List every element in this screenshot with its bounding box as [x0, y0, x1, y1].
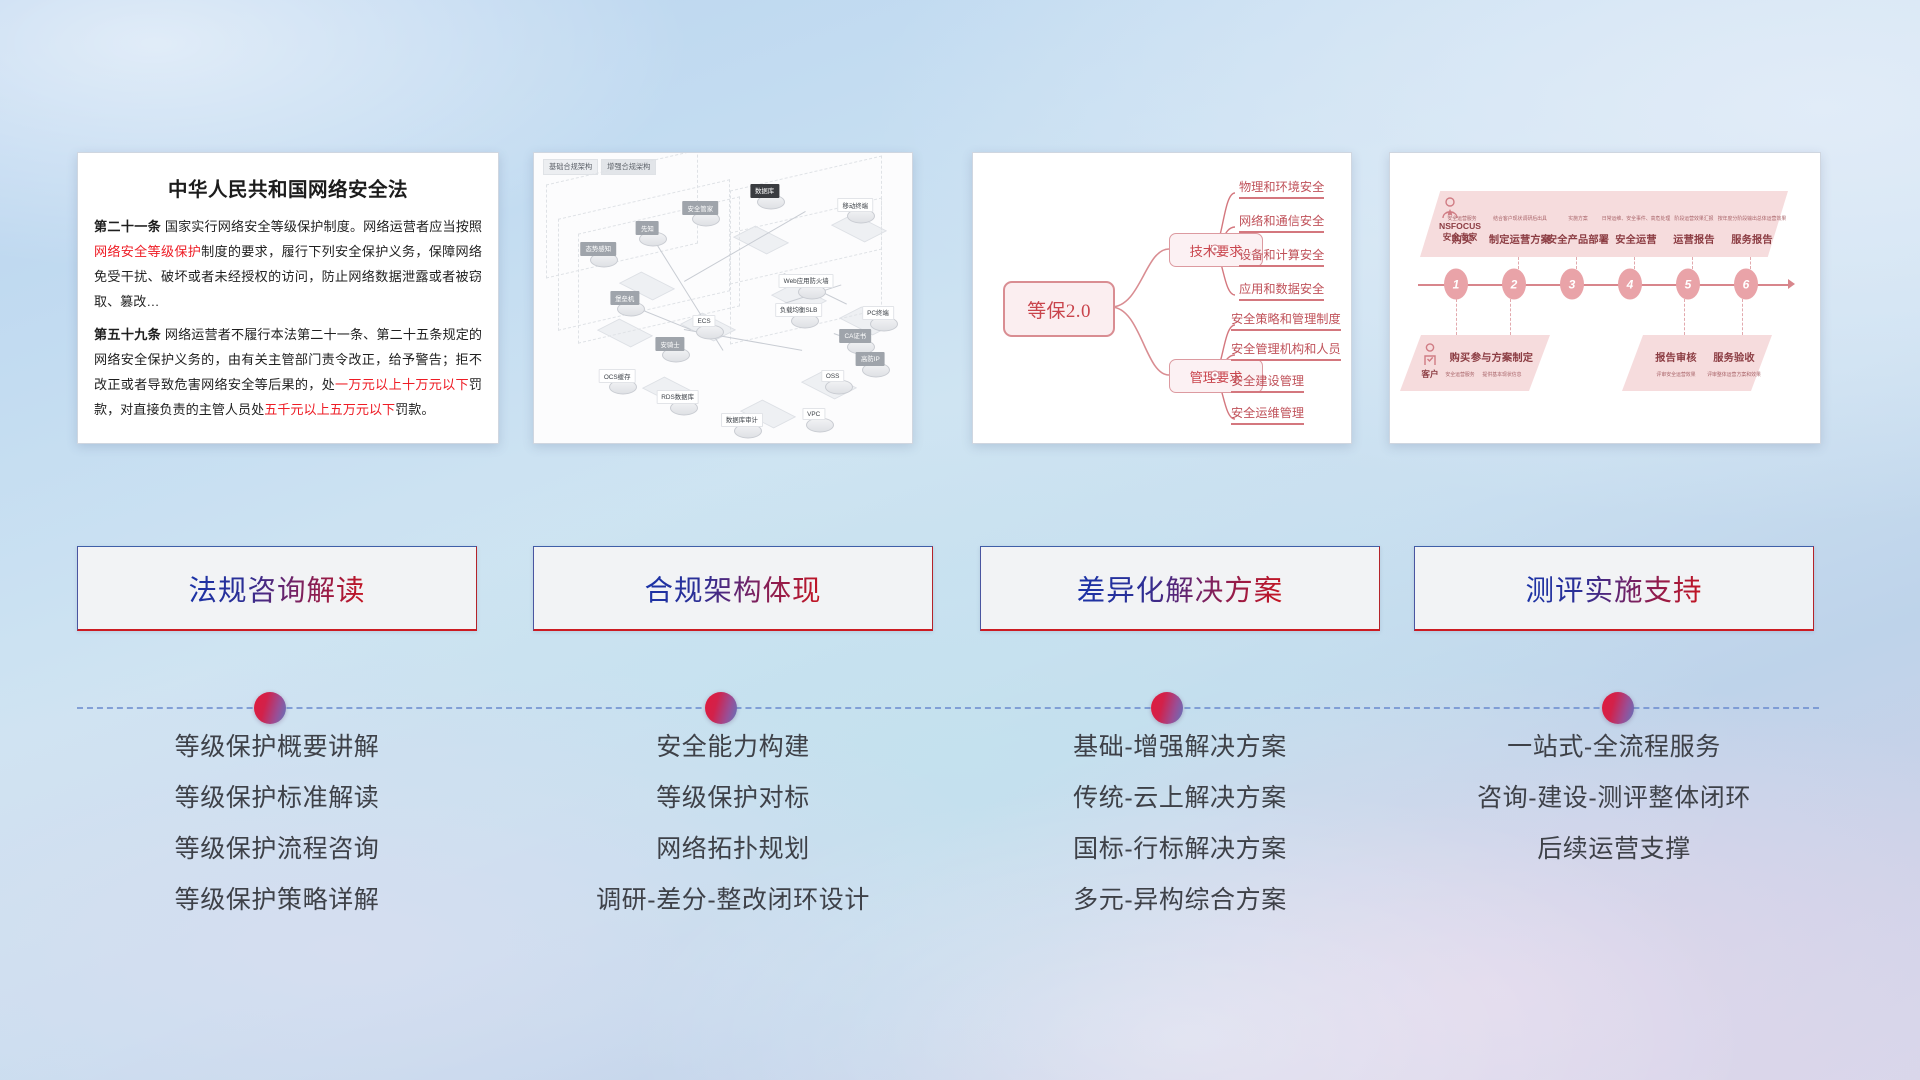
list-item: 等级保护概要讲解 [77, 735, 477, 760]
list-item: 基础-增强解决方案 [980, 735, 1380, 760]
list-item: 等级保护策略详解 [77, 888, 477, 913]
heading-label: 测评实施支持 [1525, 568, 1702, 609]
list-item: 一站式-全流程服务 [1414, 735, 1814, 760]
section-detail-columns: 等级保护概要讲解 等级保护标准解读 等级保护流程咨询 等级保护策略详解 安全能力… [0, 735, 1920, 985]
list-item: 等级保护对标 [533, 786, 933, 811]
detail-column-assessment-support: 一站式-全流程服务 咨询-建设-测评整体闭环 后续运营支撑 [1414, 735, 1814, 888]
heading-label: 差异化解决方案 [1077, 568, 1284, 609]
list-item: 传统-云上解决方案 [980, 786, 1380, 811]
list-item: 咨询-建设-测评整体闭环 [1414, 786, 1814, 811]
heading-box-differentiated-solution[interactable]: 差异化解决方案 [980, 546, 1380, 631]
section-timeline [0, 688, 1920, 728]
timeline-node-1[interactable] [254, 692, 286, 724]
detail-column-regulation-consulting: 等级保护概要讲解 等级保护标准解读 等级保护流程咨询 等级保护策略详解 [77, 735, 477, 939]
list-item: 国标-行标解决方案 [980, 837, 1380, 862]
timeline-dashed-line [77, 707, 1819, 709]
list-item: 等级保护流程咨询 [77, 837, 477, 862]
heading-box-regulation-consulting[interactable]: 法规咨询解读 [77, 546, 477, 631]
list-item: 安全能力构建 [533, 735, 933, 760]
list-item: 网络拓扑规划 [533, 837, 933, 862]
timeline-node-4[interactable] [1602, 692, 1634, 724]
heading-label: 合规架构体现 [644, 568, 821, 609]
list-item: 多元-异构综合方案 [980, 888, 1380, 913]
detail-column-compliance-architecture: 安全能力构建 等级保护对标 网络拓扑规划 调研-差分-整改闭环设计 [533, 735, 933, 939]
slide-stage: 中华人民共和国网络安全法 第二十一条 国家实行网络安全等级保护制度。网络运营者应… [0, 0, 1920, 1080]
heading-box-compliance-architecture[interactable]: 合规架构体现 [533, 546, 933, 631]
timeline-node-2[interactable] [705, 692, 737, 724]
list-item: 等级保护标准解读 [77, 786, 477, 811]
list-item: 后续运营支撑 [1414, 837, 1814, 862]
heading-box-assessment-support[interactable]: 测评实施支持 [1414, 546, 1814, 631]
heading-label: 法规咨询解读 [188, 568, 365, 609]
detail-column-differentiated-solution: 基础-增强解决方案 传统-云上解决方案 国标-行标解决方案 多元-异构综合方案 [980, 735, 1380, 939]
timeline-node-3[interactable] [1151, 692, 1183, 724]
list-item: 调研-差分-整改闭环设计 [533, 888, 933, 913]
